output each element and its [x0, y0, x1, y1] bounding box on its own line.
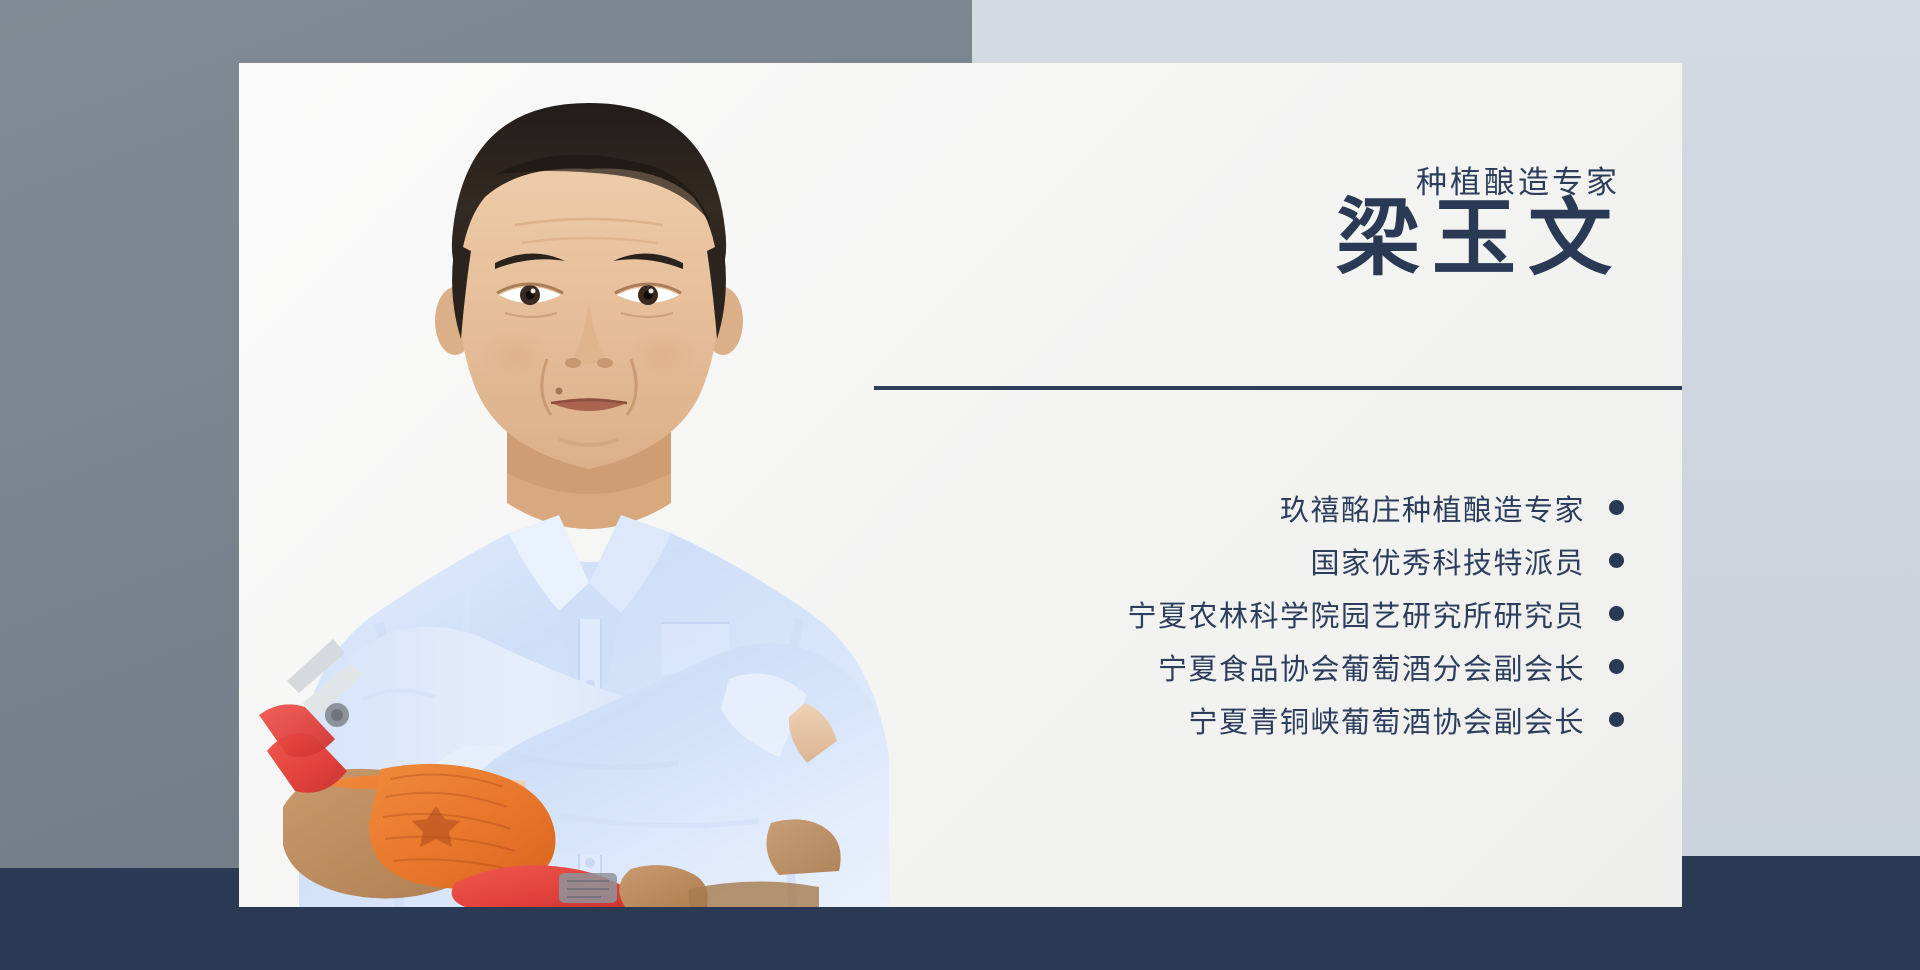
bullet-dot-icon [1609, 606, 1624, 621]
list-item: 玖禧酩庄种植酿造专家 [1127, 481, 1624, 534]
list-item: 宁夏农林科学院园艺研究所研究员 [1127, 587, 1624, 640]
poster-canvas: 种植酿造专家 梁玉文 玖禧酩庄种植酿造专家 国家优秀科技特派员 宁夏农林科学院园… [0, 0, 1920, 970]
credential-label: 宁夏青铜峡葡萄酒协会副会长 [1188, 699, 1585, 741]
profile-info: 种植酿造专家 梁玉文 玖禧酩庄种植酿造专家 国家优秀科技特派员 宁夏农林科学院园… [939, 63, 1682, 907]
credential-label: 玖禧酩庄种植酿造专家 [1280, 487, 1585, 529]
bullet-dot-icon [1609, 553, 1624, 568]
profile-card: 种植酿造专家 梁玉文 玖禧酩庄种植酿造专家 国家优秀科技特派员 宁夏农林科学院园… [239, 63, 1682, 907]
bullet-dot-icon [1609, 659, 1624, 674]
portrait-photo [259, 63, 919, 907]
bullet-dot-icon [1609, 500, 1624, 515]
person-name: 梁玉文 [1336, 196, 1624, 284]
list-item: 宁夏青铜峡葡萄酒协会副会长 [1127, 693, 1624, 746]
divider [874, 381, 1682, 395]
divider-line [874, 386, 1682, 390]
list-item: 国家优秀科技特派员 [1127, 534, 1624, 587]
list-item: 宁夏食品协会葡萄酒分会副会长 [1127, 640, 1624, 693]
credential-label: 国家优秀科技特派员 [1310, 540, 1585, 582]
credentials-list: 玖禧酩庄种植酿造专家 国家优秀科技特派员 宁夏农林科学院园艺研究所研究员 宁夏食… [1127, 481, 1624, 746]
bullet-dot-icon [1609, 712, 1624, 727]
credential-label: 宁夏农林科学院园艺研究所研究员 [1127, 593, 1585, 635]
credential-label: 宁夏食品协会葡萄酒分会副会长 [1158, 646, 1585, 688]
